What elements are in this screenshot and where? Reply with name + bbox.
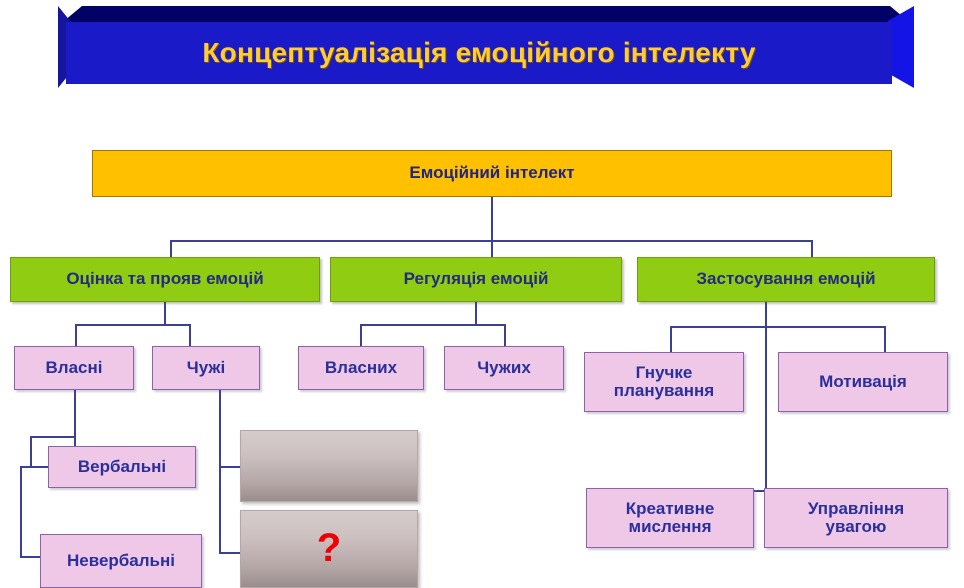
node-nonverbal[interactable]: Невербальні xyxy=(40,534,202,588)
connector-b2-drop-2 xyxy=(504,324,506,346)
node-hidden-answer-2[interactable]: ? xyxy=(240,510,418,588)
node-b3c4-label: Управління увагою xyxy=(808,500,904,537)
connector-b3-drop-1 xyxy=(670,326,672,352)
connector-others-stem xyxy=(219,390,221,554)
node-b3-label: Застосування емоцій xyxy=(696,270,875,288)
title-banner-face: Концептуалізація емоційного інтелекту xyxy=(66,22,892,84)
node-b3c3-label-line2: мислення xyxy=(626,518,715,536)
connector-b2-bus xyxy=(360,324,506,326)
connector-b2-stem xyxy=(475,302,477,326)
node-b2c2-label: Чужих xyxy=(477,359,531,377)
slide-canvas: Концептуалізація емоційного інтелекту Ем… xyxy=(0,0,964,588)
node-flexible-planning[interactable]: Гнучке планування xyxy=(584,352,744,412)
node-b2c1-label: Власних xyxy=(325,359,397,377)
node-b3c1-label-line2: планування xyxy=(614,382,714,400)
node-own-emotions[interactable]: Власні xyxy=(14,346,134,390)
node-regulation-of-emotions[interactable]: Регуляція емоцій xyxy=(330,257,622,302)
title-banner: Концептуалізація емоційного інтелекту xyxy=(58,6,914,88)
node-root-emotional-intelligence[interactable]: Емоційний інтелект xyxy=(92,150,892,197)
node-b1c1-label: Власні xyxy=(46,359,103,377)
node-motivation[interactable]: Мотивація xyxy=(778,352,948,412)
connector-b1-stem xyxy=(164,302,166,326)
node-b3c2-label: Мотивація xyxy=(819,373,907,391)
node-b2-label: Регуляція емоцій xyxy=(404,270,549,288)
node-b1c1c2-label: Невербальні xyxy=(67,552,175,570)
node-hidden-answer-1[interactable] xyxy=(240,430,418,502)
node-regulation-own[interactable]: Власних xyxy=(298,346,424,390)
node-b3c3-label: Креативне мислення xyxy=(626,500,715,537)
connector-b1-bus xyxy=(75,324,191,326)
node-root-label: Емоційний інтелект xyxy=(409,164,574,182)
connector-b3-stem xyxy=(765,302,767,492)
connector-b3-bus-upper xyxy=(670,326,886,328)
node-hidden2-label: ? xyxy=(317,527,341,570)
node-b1c2-label: Чужі xyxy=(187,359,225,377)
node-b3c4-label-line1: Управління xyxy=(808,500,904,518)
node-b3c4-label-line2: увагою xyxy=(808,518,904,536)
connector-own-branch-up xyxy=(30,436,76,438)
node-b3c3-label-line1: Креативне xyxy=(626,500,715,518)
connector-b1-drop-1 xyxy=(75,324,77,346)
node-attention-management[interactable]: Управління увагою xyxy=(764,488,948,548)
node-application-of-emotions[interactable]: Застосування емоцій xyxy=(637,257,935,302)
connector-own-riser-1 xyxy=(30,436,32,468)
connector-level2-drop-2 xyxy=(491,240,493,258)
connector-b3-drop-2 xyxy=(884,326,886,352)
connector-level2-drop-3 xyxy=(811,240,813,258)
page-title: Концептуалізація емоційного інтелекту xyxy=(202,37,755,69)
node-others-emotions[interactable]: Чужі xyxy=(152,346,260,390)
node-regulation-others[interactable]: Чужих xyxy=(444,346,564,390)
node-creative-thinking[interactable]: Креативне мислення xyxy=(586,488,754,548)
node-b1-label: Оцінка та прояв емоцій xyxy=(66,270,263,288)
node-b3c1-label: Гнучке планування xyxy=(614,364,714,401)
connector-own-elbow xyxy=(20,466,32,468)
connector-hidden-arm-2 xyxy=(219,552,241,554)
connector-own-riser-2 xyxy=(20,466,22,558)
node-verbal[interactable]: Вербальні xyxy=(48,446,196,488)
connector-hidden-arm-1 xyxy=(219,466,241,468)
connector-b1-drop-2 xyxy=(189,324,191,346)
connector-root-stem xyxy=(491,197,493,242)
connector-level2-drop-1 xyxy=(170,240,172,258)
node-assessment-expression-of-emotions[interactable]: Оцінка та прояв емоцій xyxy=(10,257,320,302)
connector-b2-drop-1 xyxy=(360,324,362,346)
node-b3c1-label-line1: Гнучке xyxy=(614,364,714,382)
node-b1c1c1-label: Вербальні xyxy=(78,458,166,476)
